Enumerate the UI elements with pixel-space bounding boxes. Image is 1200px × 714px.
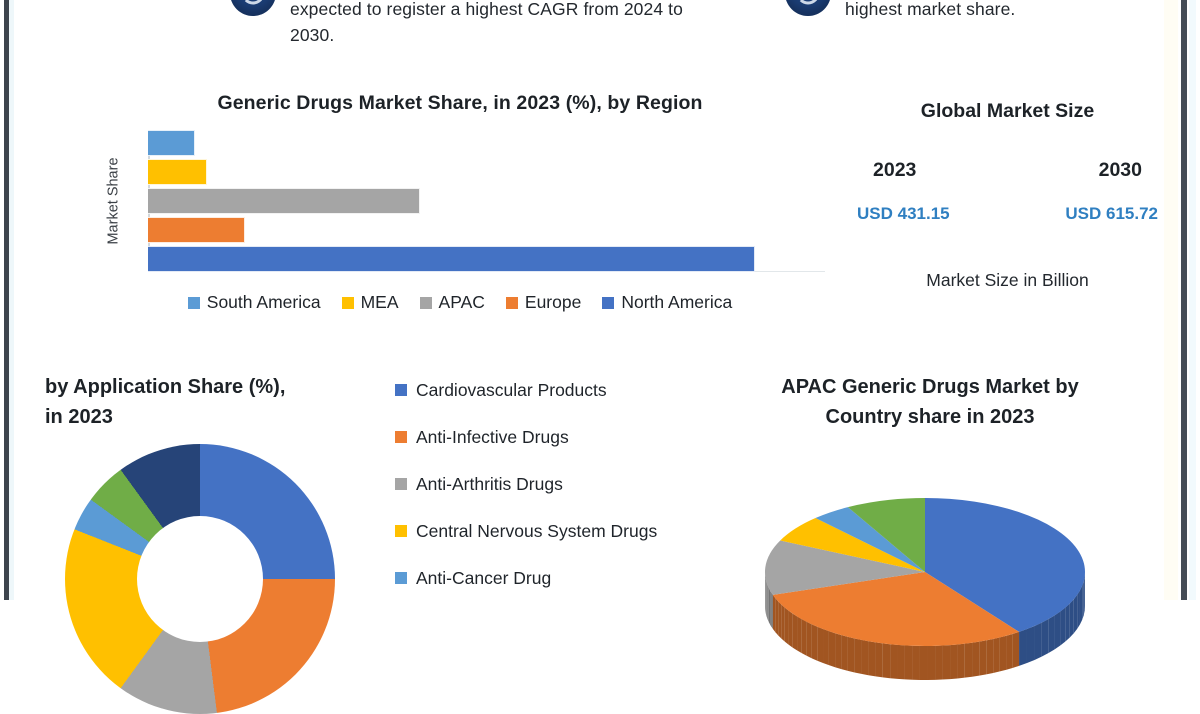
pie-slice-side-2 — [905, 645, 912, 679]
cagr-callout-text: Asia Pacific generic drugs market is exp… — [290, 0, 700, 48]
pie-slice-side-2 — [793, 614, 797, 651]
pie-slice-side-2 — [775, 598, 778, 635]
pie-slice-side-2 — [778, 601, 781, 638]
donut-chart-title-line1: by Application Share (%), — [45, 372, 385, 402]
pie-slice-side-1 — [1054, 612, 1060, 650]
pie-slice-side-2 — [876, 642, 883, 677]
pie-slice-side-3 — [770, 591, 771, 626]
legend-swatch-icon — [602, 297, 614, 309]
apac-country-share-chart: APAC Generic Drugs Market by Country sha… — [700, 372, 1160, 432]
donut-legend-item[interactable]: Cardiovascular Products — [395, 378, 685, 402]
pie-slice-side-1 — [1060, 608, 1065, 646]
pie-slice-side-3 — [772, 594, 773, 629]
donut-legend-item[interactable]: Anti-Infective Drugs — [395, 425, 685, 449]
page-border-right — [1181, 0, 1187, 600]
market-size-year-2023: 2023 — [873, 159, 916, 182]
donut-legend-item[interactable]: Central Nervous System Drugs — [395, 519, 685, 543]
pie-slice-side-2 — [1000, 636, 1007, 672]
pie-slice-side-1 — [1019, 629, 1027, 666]
pie-slice-side-2 — [785, 608, 789, 645]
pie-slice-side-2 — [972, 642, 979, 677]
bar-legend-label: North America — [621, 292, 732, 313]
bar-legend-label: APAC — [439, 292, 485, 313]
bar-chart-title: Generic Drugs Market Share, in 2023 (%),… — [95, 92, 825, 115]
pie-slice-side-1 — [1027, 626, 1035, 663]
infographic-page: Asia Pacific generic drugs market is exp… — [0, 0, 1200, 600]
bar-north-america — [148, 246, 755, 272]
market-size-year-2030: 2030 — [1099, 159, 1142, 182]
pie-slice-side-2 — [957, 644, 964, 679]
pie-slice-side-2 — [781, 605, 784, 642]
pie-slice-side-2 — [979, 640, 986, 675]
pie-slice-side-2 — [950, 644, 957, 679]
pie-slice-side-1 — [1048, 615, 1054, 653]
donut-legend-label: Anti-Cancer Drug — [416, 566, 551, 590]
pie-slice-side-3 — [771, 592, 772, 627]
pie-slice-side-3 — [768, 587, 769, 622]
bar-legend-item[interactable]: Europe — [506, 292, 581, 313]
bar-row — [148, 188, 825, 214]
pie-slice-side-2 — [829, 631, 835, 667]
cagr-callout-body: expected to register a highest CAGR from… — [290, 0, 683, 45]
pie-slice-side-2 — [928, 646, 936, 680]
page-border-left-inner — [14, 0, 21, 600]
pie-slice-side-3 — [767, 584, 768, 619]
pie-slice-side-2 — [965, 643, 972, 678]
pie-chart-title-line1: APAC Generic Drugs Market by — [700, 372, 1160, 402]
region-market-share-chart: Generic Drugs Market Share, in 2023 (%),… — [95, 92, 825, 342]
pie-slice-side-2 — [1013, 632, 1019, 668]
pie-slice-side-2 — [861, 640, 868, 675]
bar-chart-bars — [148, 130, 825, 272]
donut-legend-item[interactable]: Anti-Arthritis Drugs — [395, 472, 685, 496]
pie-slice-side-2 — [868, 641, 875, 676]
global-market-size-panel: Global Market Size 2023 2030 USD 431.15 … — [855, 100, 1160, 291]
pie-slice-side-1 — [1065, 604, 1070, 642]
bar-chart-y-axis-label-text: Market Share — [106, 157, 122, 244]
legend-swatch-icon — [395, 572, 407, 584]
bar-legend-label: South America — [207, 292, 321, 313]
bar-legend-item[interactable]: MEA — [342, 292, 399, 313]
pie-slice-side-2 — [935, 646, 943, 680]
pie-slice-side-2 — [797, 616, 802, 653]
bar-row — [148, 217, 825, 243]
pie-slice-side-2 — [912, 646, 920, 680]
bar-row — [148, 159, 825, 185]
pie-slice-side-2 — [812, 624, 817, 660]
global-market-size-years: 2023 2030 — [855, 159, 1160, 182]
legend-swatch-icon — [188, 297, 200, 309]
pie-slice-side-3 — [768, 585, 769, 620]
legend-swatch-icon — [342, 297, 354, 309]
pie-slice-side-2 — [789, 611, 793, 648]
donut-chart-title: by Application Share (%), in 2023 — [45, 372, 385, 432]
legend-swatch-icon — [395, 525, 407, 537]
bar-chart-y-axis-label: Market Share — [103, 130, 125, 272]
global-market-size-footnote: Market Size in Billion — [855, 270, 1160, 291]
donut-chart-graphic — [65, 444, 335, 714]
bar-legend-label: Europe — [525, 292, 581, 313]
global-market-size-values: USD 431.15 USD 615.72 — [855, 204, 1160, 224]
pie-slice-side-1 — [1080, 586, 1082, 625]
donut-center-hole — [137, 516, 263, 642]
pie-slice-side-2 — [1006, 634, 1012, 670]
pie-slice-side-2 — [823, 629, 829, 665]
application-share-chart: by Application Share (%), in 2023 Cardio… — [45, 372, 685, 600]
bar-chart-plot-area: Market Share — [95, 130, 825, 272]
legend-swatch-icon — [395, 431, 407, 443]
bar-legend-item[interactable]: South America — [188, 292, 321, 313]
market-size-value-2023: USD 431.15 — [857, 204, 950, 224]
page-border-right-cream — [1164, 0, 1178, 600]
market-share-callout-text: dominated the market with the highest ma… — [845, 0, 1082, 22]
pie-slice-side-2 — [897, 645, 904, 680]
legend-swatch-icon — [420, 297, 432, 309]
pie-slice-side-1 — [1035, 623, 1042, 660]
bar-legend-item[interactable]: APAC — [420, 292, 485, 313]
pie-chart-title-line2: Country share in 2023 — [700, 402, 1160, 432]
cagr-callout: Asia Pacific generic drugs market is exp… — [230, 0, 700, 48]
bar-mea — [148, 159, 207, 185]
pie-slice-side-2 — [817, 627, 823, 663]
global-market-size-title: Global Market Size — [855, 100, 1160, 123]
donut-legend-label: Central Nervous System Drugs — [416, 519, 657, 543]
donut-legend-item[interactable]: Anti-Cancer Drug — [395, 566, 685, 590]
market-share-callout-body: highest market share. — [845, 0, 1015, 19]
pie-slice-side-1 — [1042, 619, 1049, 656]
bar-south-america — [148, 130, 195, 156]
pie-slice-side-2 — [773, 595, 775, 632]
pie-slice-side-3 — [770, 590, 771, 625]
pie-slice-side-1 — [1070, 599, 1074, 637]
pie-chart-graphic — [755, 477, 1095, 697]
legend-swatch-icon — [506, 297, 518, 309]
pie-slice-side-2 — [883, 643, 890, 678]
globe-circle-icon — [785, 0, 831, 16]
pie-slice-side-2 — [841, 635, 848, 671]
bar-row — [148, 246, 825, 272]
page-border-right-tint — [1189, 0, 1196, 600]
pie-slice-side-2 — [848, 637, 855, 673]
donut-chart-legend: Cardiovascular ProductsAnti-Infective Dr… — [395, 378, 685, 613]
bar-chart-legend: South AmericaMEAAPACEuropeNorth America — [95, 292, 825, 313]
pie-slice-side-1 — [1077, 590, 1080, 628]
bar-apac — [148, 188, 420, 214]
legend-swatch-icon — [395, 478, 407, 490]
pie-slice-side-2 — [855, 638, 862, 673]
pie-chart-svg — [755, 477, 1095, 697]
pie-slice-side-1 — [1082, 581, 1084, 620]
market-share-callout: dominated the market with the highest ma… — [785, 0, 1115, 22]
pie-slice-side-2 — [943, 645, 950, 679]
donut-legend-label: Anti-Arthritis Drugs — [416, 472, 563, 496]
pie-slice-side-2 — [807, 622, 812, 659]
legend-swatch-icon — [395, 384, 407, 396]
donut-legend-label: Cardiovascular Products — [416, 378, 607, 402]
pie-slice-side-2 — [802, 619, 807, 656]
pie-slice-side-3 — [769, 588, 770, 623]
pie-slice-side-1 — [1084, 577, 1085, 616]
pie-slice-side-2 — [920, 646, 928, 680]
info-circle-icon — [230, 0, 276, 16]
pie-slice-side-2 — [835, 633, 841, 669]
pie-slice-side-1 — [1074, 595, 1077, 633]
bar-europe — [148, 217, 245, 243]
bar-legend-label: MEA — [361, 292, 399, 313]
pie-slice-side-2 — [986, 639, 993, 674]
market-size-value-2030: USD 615.72 — [1065, 204, 1158, 224]
donut-legend-label: Anti-Infective Drugs — [416, 425, 569, 449]
donut-chart-title-line2: in 2023 — [45, 402, 385, 432]
pie-chart-title: APAC Generic Drugs Market by Country sha… — [700, 372, 1160, 432]
bar-row — [148, 130, 825, 156]
pie-slice-side-2 — [993, 637, 1000, 673]
bar-legend-item[interactable]: North America — [602, 292, 732, 313]
pie-slice-side-2 — [890, 644, 897, 679]
